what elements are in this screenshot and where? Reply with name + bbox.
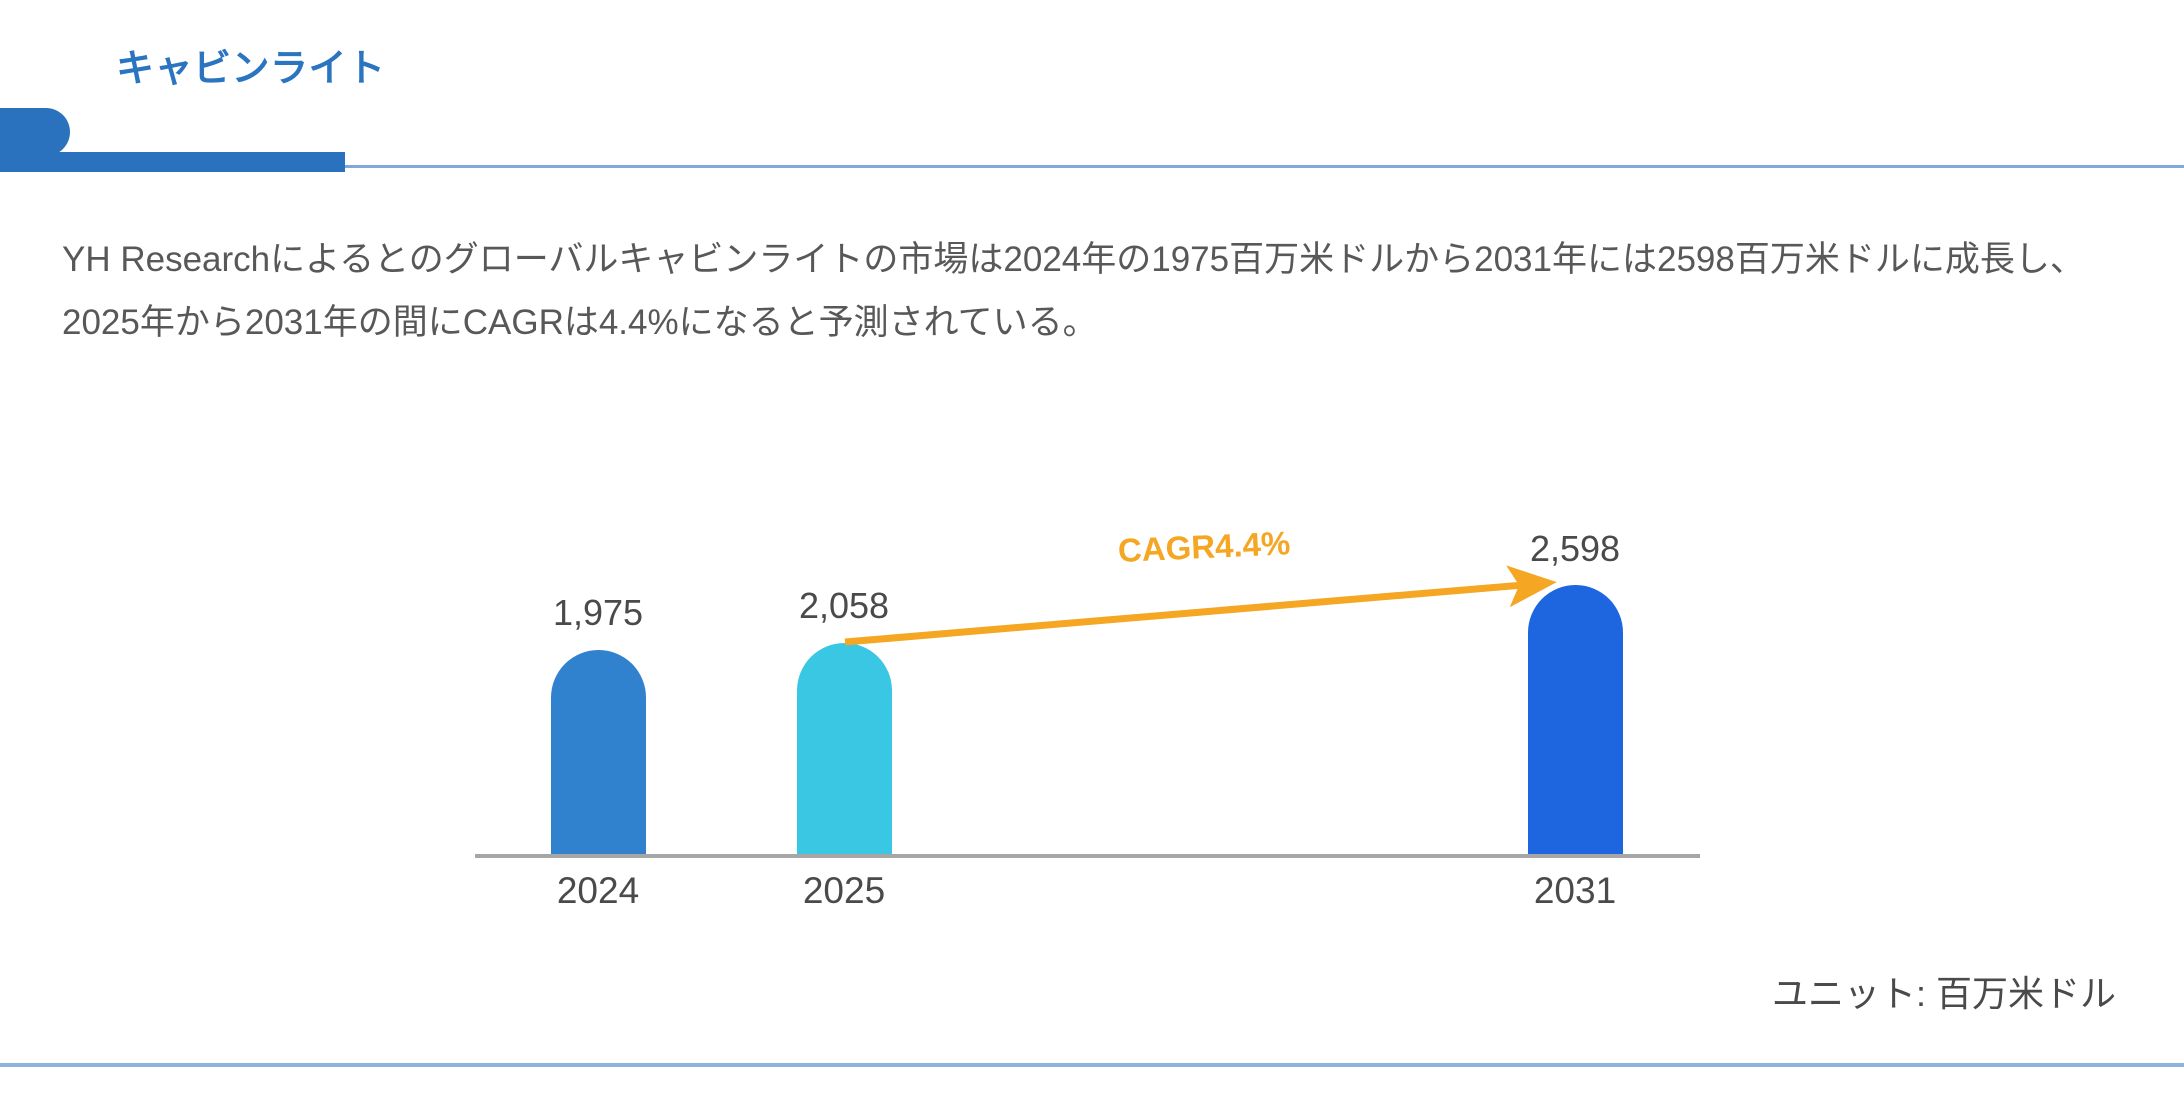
market-size-bar-chart: 1,975 2024 2,058 2025 2,598 2031 — [0, 470, 2184, 930]
bar-value-2031: 2,598 — [1475, 528, 1675, 570]
slide-root: キャビンライト YH Researchによるとのグローバルキャビンライトの市場は… — [0, 0, 2184, 1094]
cagr-arrow-icon — [0, 470, 2184, 930]
header-accent-bar — [0, 152, 345, 172]
cagr-annotation-label: CAGR4.4% — [1117, 524, 1291, 570]
bar-2031 — [1528, 585, 1623, 854]
bar-2024 — [551, 650, 646, 854]
summary-paragraph: YH Researchによるとのグローバルキャビンライトの市場は2024年の19… — [62, 228, 2122, 354]
header-accent-blob — [0, 108, 70, 156]
slide-header: キャビンライト — [0, 0, 2184, 180]
chart-unit-label: ユニット: 百万米ドル — [1772, 965, 2116, 1017]
bar-category-2031: 2031 — [1475, 870, 1675, 912]
bar-category-2024: 2024 — [498, 870, 698, 912]
bar-value-2025: 2,058 — [744, 585, 944, 627]
chart-baseline-axis — [475, 854, 1700, 858]
footer-divider-rule — [0, 1063, 2184, 1067]
bar-2025 — [797, 643, 892, 854]
header-divider-rule — [345, 165, 2184, 168]
bar-category-2025: 2025 — [744, 870, 944, 912]
page-title: キャビンライト — [116, 37, 386, 92]
bar-value-2024: 1,975 — [498, 592, 698, 634]
